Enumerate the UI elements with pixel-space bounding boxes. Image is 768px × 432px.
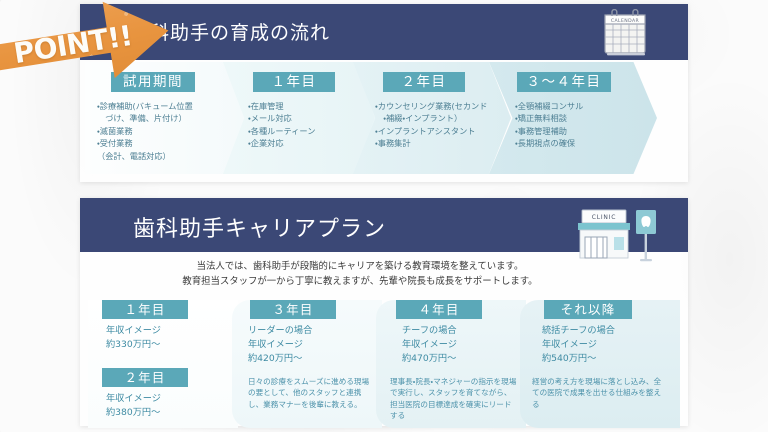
lead-line-1: 当法人では、歯科助手が段階的にキャリアを築ける教育環境を整えています。 bbox=[80, 259, 640, 274]
career-tab-year4: ４年目 bbox=[396, 300, 482, 319]
list-item: ・在庫管理 bbox=[248, 100, 315, 112]
career-stage-columns: １年目 年収イメージ 約330万円〜 ２年目 年収イメージ 約380万円〜 ３年… bbox=[88, 300, 688, 430]
flow-stage-2-items: ・在庫管理 ・メール対応 ・各種ルーティーン ・企業対応 bbox=[248, 100, 315, 150]
list-item: ・インプラントアシスタント bbox=[375, 125, 487, 137]
list-item: ・企業対応 bbox=[248, 137, 315, 149]
list-item: ・補綴・インプラント） bbox=[375, 112, 487, 124]
career-salary-beyond: 統括チーフの場合 年収イメージ 約540万円〜 bbox=[542, 324, 615, 366]
list-item: ・滅菌業務 bbox=[97, 125, 193, 137]
career-salary-year3: リーダーの場合 年収イメージ 約420万円〜 bbox=[248, 324, 312, 366]
training-stage-flow: 試用期間 ・診療補助(バキューム位置 づけ、準備、片付け） ・滅菌業務 ・受付業… bbox=[85, 62, 685, 174]
list-item: ・事務集計 bbox=[375, 137, 487, 149]
salary-value: 約470万円〜 bbox=[402, 352, 457, 366]
list-item: ・診療補助(バキューム位置 bbox=[97, 100, 193, 112]
career-salary-year1: 年収イメージ 約330万円〜 bbox=[106, 324, 161, 352]
list-item: ・各種ルーティーン bbox=[248, 125, 315, 137]
career-salary-year4: チーフの場合 年収イメージ 約470万円〜 bbox=[402, 324, 457, 366]
flow-stage-3-items: ・カウンセリング業務(セカンド ・補綴・インプラント） ・インプラントアシスタン… bbox=[375, 100, 487, 150]
salary-label: 年収イメージ bbox=[542, 338, 615, 352]
lead-line-2: 教育担当スタッフが一から丁寧に教えますが、先輩や院長も成長をサポートします。 bbox=[80, 274, 640, 289]
career-desc-year3: 日々の診療をスムーズに進める現場の要として、他のスタッフと連携し、業務マナーを後… bbox=[248, 376, 370, 410]
flow-stage-2-label: １年目 bbox=[253, 72, 335, 92]
list-item: づけ、準備、片付け） bbox=[97, 112, 193, 124]
salary-value: 約540万円〜 bbox=[542, 352, 615, 366]
salary-label: 年収イメージ bbox=[402, 338, 457, 352]
list-item: ・カウンセリング業務(セカンド bbox=[375, 100, 487, 112]
list-item: ・全顎補綴コンサル bbox=[515, 100, 583, 112]
flow-stage-1-items: ・診療補助(バキューム位置 づけ、準備、片付け） ・滅菌業務 ・受付業務 （会計… bbox=[97, 100, 193, 162]
career-salary-year2: 年収イメージ 約380万円〜 bbox=[106, 392, 161, 420]
salary-value: 約380万円〜 bbox=[106, 406, 161, 420]
salary-label: 年収イメージ bbox=[106, 324, 161, 338]
salary-label: 年収イメージ bbox=[106, 392, 161, 406]
list-item: ・長期視点の確保 bbox=[515, 137, 583, 149]
career-tab-year1: １年目 bbox=[102, 300, 188, 319]
list-item: ・受付業務 bbox=[97, 137, 193, 149]
career-tab-year2: ２年目 bbox=[102, 368, 188, 387]
career-role: 統括チーフの場合 bbox=[542, 324, 615, 338]
list-item: （会計、電話対応） bbox=[97, 150, 193, 162]
career-plan-lead-text: 当法人では、歯科助手が段階的にキャリアを築ける教育環境を整えています。 教育担当… bbox=[80, 259, 640, 289]
calendar-icon: CALENDAR bbox=[598, 9, 652, 57]
salary-label: 年収イメージ bbox=[248, 338, 312, 352]
career-tab-beyond: それ以降 bbox=[544, 300, 632, 319]
career-plan-title: 歯科助手キャリアプラン bbox=[133, 211, 386, 243]
salary-value: 約330万円〜 bbox=[106, 338, 161, 352]
flow-stage-3-label: ２年目 bbox=[383, 72, 465, 92]
career-desc-beyond: 経営の考え方を現場に落とし込み、全ての医院で成果を出せる仕組みを整える bbox=[532, 376, 662, 410]
career-role: リーダーの場合 bbox=[248, 324, 312, 338]
career-desc-year4: 理事長・院長・マネジャーの指示を現場で実行し、スタッフを育てながら、担当医院の目… bbox=[390, 376, 518, 422]
list-item: ・事務管理補助 bbox=[515, 125, 583, 137]
salary-value: 約420万円〜 bbox=[248, 352, 312, 366]
svg-text:CALENDAR: CALENDAR bbox=[611, 18, 640, 24]
flow-stage-4-items: ・全顎補綴コンサル ・矯正無料相談 ・事務管理補助 ・長期視点の確保 bbox=[515, 100, 583, 150]
career-tab-year3: ３年目 bbox=[250, 300, 336, 319]
list-item: ・メール対応 bbox=[248, 112, 315, 124]
flow-stage-4-label: ３〜４年目 bbox=[517, 72, 611, 92]
career-role: チーフの場合 bbox=[402, 324, 457, 338]
list-item: ・矯正無料相談 bbox=[515, 112, 583, 124]
svg-text:CLINIC: CLINIC bbox=[592, 214, 617, 221]
